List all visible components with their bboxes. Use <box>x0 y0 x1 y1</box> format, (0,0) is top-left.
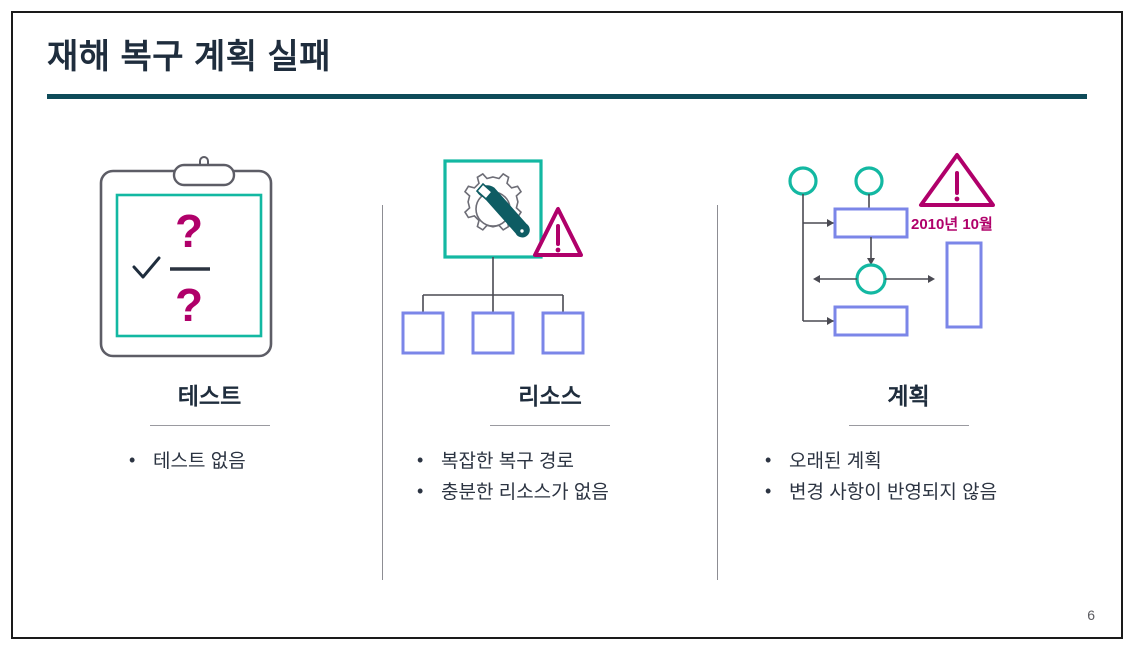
list-item: 복잡한 복구 경로 <box>409 448 715 476</box>
heading-rule-plan <box>849 425 969 426</box>
column-divider-2 <box>717 205 718 580</box>
bullet-list-plan: 오래된 계획 변경 사항이 반영되지 않음 <box>757 448 1096 506</box>
column-heading-test: 테스트 <box>37 377 382 411</box>
page-title: 재해 복구 계획 실패 <box>47 37 1087 78</box>
page-number: 6 <box>1087 607 1095 623</box>
heading-rule-test <box>150 425 270 426</box>
column-divider-1 <box>382 205 383 580</box>
flowchart-outdated-icon: 2010년 10월 <box>721 143 1096 373</box>
column-test: ? ? 테스트 테스트 없음 <box>37 143 382 479</box>
svg-text:?: ? <box>175 205 203 257</box>
list-item: 충분한 리소스가 없음 <box>409 479 715 507</box>
list-item: 오래된 계획 <box>757 448 1096 476</box>
gear-wrench-hierarchy-icon <box>385 143 715 373</box>
date-annotation: 2010년 10월 <box>911 213 993 234</box>
heading-rule-resource <box>490 425 610 426</box>
slide-canvas: 재해 복구 계획 실패 ? <box>11 11 1123 639</box>
list-item: 변경 사항이 반영되지 않음 <box>757 479 1044 507</box>
svg-text:?: ? <box>175 279 203 331</box>
column-heading-plan: 계획 <box>721 377 1096 411</box>
clipboard-question-icon: ? ? <box>37 143 382 373</box>
column-plan: 2010년 10월 계획 오래된 계획 변경 사항이 반영되지 않음 <box>721 143 1096 509</box>
list-item: 테스트 없음 <box>121 448 382 476</box>
bullet-list-resource: 복잡한 복구 경로 충분한 리소스가 없음 <box>409 448 715 506</box>
columns-container: ? ? 테스트 테스트 없음 <box>13 143 1121 613</box>
bullet-list-test: 테스트 없음 <box>121 448 382 476</box>
title-block: 재해 복구 계획 실패 <box>47 37 1087 99</box>
column-resource: 리소스 복잡한 복구 경로 충분한 리소스가 없음 <box>385 143 715 509</box>
column-heading-resource: 리소스 <box>385 377 715 411</box>
title-accent-rule <box>47 94 1087 99</box>
